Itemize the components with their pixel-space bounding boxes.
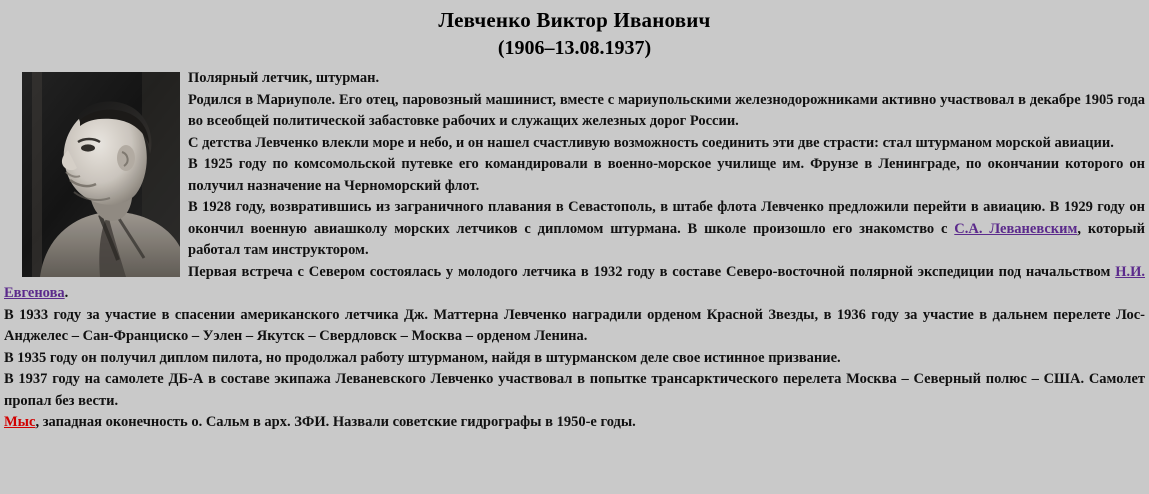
paragraph-north-text-after: . bbox=[65, 285, 69, 301]
paragraph-cape: Мыс, западная оконечность о. Сальм в арх… bbox=[4, 412, 1145, 434]
page-header: Левченко Виктор Иванович (1906–13.08.193… bbox=[0, 0, 1149, 62]
paragraph-1937: В 1937 году на самолете ДБ-А в составе э… bbox=[4, 369, 1145, 412]
article-body: Полярный летчик, штурман. Родился в Мари… bbox=[0, 62, 1149, 434]
link-cape[interactable]: Мыс bbox=[4, 414, 35, 430]
paragraph-north-text-before: Первая встреча с Севером состоялась у мо… bbox=[188, 264, 1115, 280]
paragraph-awards: В 1933 году за участие в спасении америк… bbox=[4, 305, 1145, 348]
link-levanevsky[interactable]: С.А. Леваневским bbox=[954, 221, 1077, 237]
page-subtitle-dates: (1906–13.08.1937) bbox=[0, 34, 1149, 62]
page-root: Левченко Виктор Иванович (1906–13.08.193… bbox=[0, 0, 1149, 494]
portrait-photo-icon bbox=[22, 72, 180, 277]
paragraph-1935: В 1935 году он получил диплом пилота, но… bbox=[4, 348, 1145, 370]
paragraph-cape-text: , западная оконечность о. Сальм в арх. З… bbox=[35, 414, 635, 430]
portrait-photo bbox=[22, 72, 180, 277]
page-title: Левченко Виктор Иванович bbox=[0, 6, 1149, 34]
